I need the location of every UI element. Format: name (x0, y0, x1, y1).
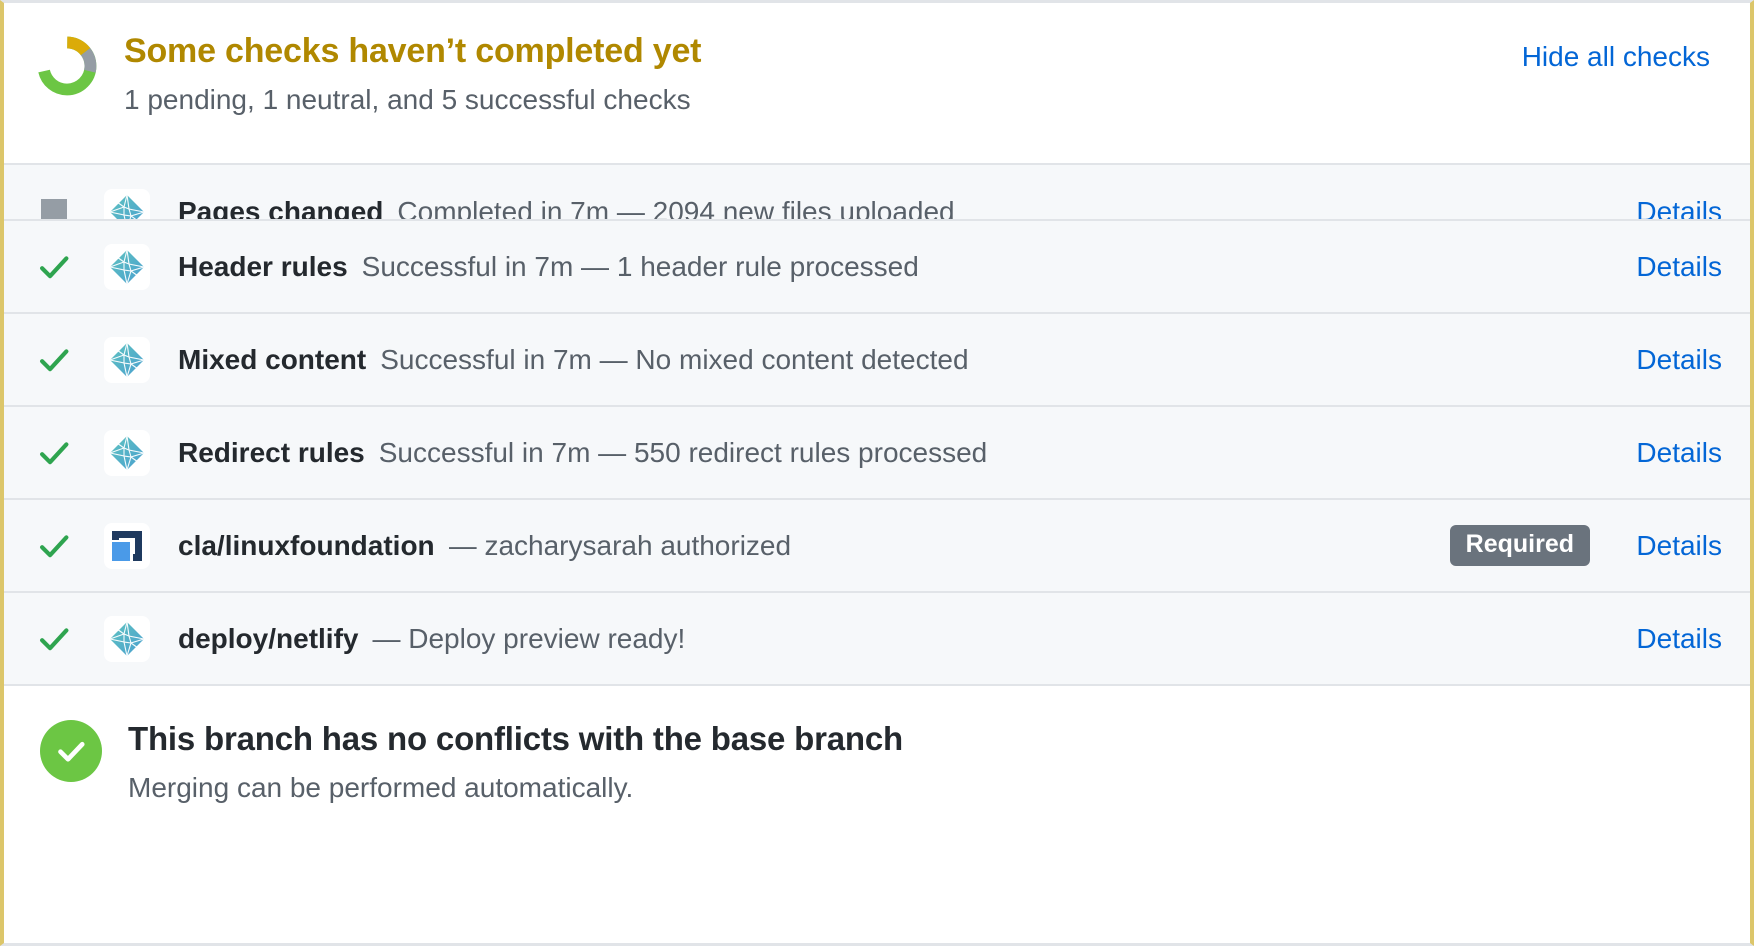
checks-summary-subtitle: 1 pending, 1 neutral, and 5 successful c… (124, 80, 1522, 121)
checks-list: Pages changedCompleted in 7m — 2094 new … (4, 163, 1750, 686)
hide-all-checks-link[interactable]: Hide all checks (1522, 41, 1722, 73)
check-row-inner: deploy/netlify— Deploy preview ready!Det… (4, 616, 1722, 662)
branch-conflict-status: This branch has no conflicts with the ba… (4, 686, 1750, 837)
check-description: — zacharysarah authorized (449, 530, 1434, 562)
check-avatar-cell (104, 523, 178, 569)
checks-summary-text: Some checks haven’t completed yet 1 pend… (124, 29, 1522, 120)
check-details-link[interactable]: Details (1612, 623, 1722, 655)
check-status-cell (4, 341, 104, 379)
cla-linuxfoundation-icon (104, 523, 150, 569)
check-row-inner: Pages changedCompleted in 7m — 2094 new … (4, 189, 1722, 221)
check-row-inner: Header rulesSuccessful in 7m — 1 header … (4, 244, 1722, 290)
check-status-cell (4, 620, 104, 658)
check-mark-icon (35, 434, 73, 472)
checks-summary-header: Some checks haven’t completed yet 1 pend… (4, 3, 1750, 163)
check-avatar-cell (104, 189, 178, 221)
check-row-inner: cla/linuxfoundation— zacharysarah author… (4, 523, 1722, 569)
check-row[interactable]: Mixed contentSuccessful in 7m — No mixed… (4, 314, 1750, 407)
check-details-link[interactable]: Details (1612, 530, 1722, 562)
netlify-diamond-icon (104, 616, 150, 662)
check-row[interactable]: cla/linuxfoundation— zacharysarah author… (4, 500, 1750, 593)
check-status-cell (4, 527, 104, 565)
netlify-diamond-icon (104, 244, 150, 290)
check-mark-icon (35, 341, 73, 379)
check-avatar-cell (104, 337, 178, 383)
check-row[interactable]: Pages changedCompleted in 7m — 2094 new … (4, 165, 1750, 221)
branch-conflict-title: This branch has no conflicts with the ba… (128, 719, 1722, 759)
green-check-circle-icon (40, 720, 102, 782)
check-name[interactable]: Header rules (178, 251, 348, 283)
check-mark-icon (35, 620, 73, 658)
check-description: Completed in 7m — 2094 new files uploade… (397, 196, 1596, 221)
check-row-actions: RequiredDetails (1450, 525, 1722, 566)
check-row[interactable]: Redirect rulesSuccessful in 7m — 550 red… (4, 407, 1750, 500)
donut-chart-icon (36, 35, 98, 97)
check-description: — Deploy preview ready! (372, 623, 1596, 655)
check-description: Successful in 7m — 550 redirect rules pr… (379, 437, 1596, 469)
branch-conflict-text: This branch has no conflicts with the ba… (128, 718, 1722, 807)
check-name[interactable]: Mixed content (178, 344, 366, 376)
check-name[interactable]: deploy/netlify (178, 623, 358, 655)
neutral-square-icon (41, 199, 67, 221)
check-row-actions: Details (1612, 623, 1722, 655)
check-row-actions: Details (1612, 251, 1722, 283)
netlify-diamond-icon (104, 430, 150, 476)
checks-summary-title: Some checks haven’t completed yet (124, 31, 1522, 72)
check-avatar-cell (104, 244, 178, 290)
check-mark-icon (35, 527, 73, 565)
check-status-cell (4, 434, 104, 472)
branch-conflict-subtitle: Merging can be performed automatically. (128, 768, 1722, 807)
check-name[interactable]: cla/linuxfoundation (178, 530, 435, 562)
check-avatar-cell (104, 430, 178, 476)
check-details-link[interactable]: Details (1612, 251, 1722, 283)
check-row-actions: Details (1612, 344, 1722, 376)
check-row-actions: Details (1612, 196, 1722, 221)
check-status-cell (4, 199, 104, 221)
check-details-link[interactable]: Details (1612, 196, 1722, 221)
check-row-inner: Mixed contentSuccessful in 7m — No mixed… (4, 337, 1722, 383)
check-details-link[interactable]: Details (1612, 437, 1722, 469)
merge-status-box: Some checks haven’t completed yet 1 pend… (0, 0, 1754, 946)
check-description: Successful in 7m — 1 header rule process… (362, 251, 1596, 283)
check-status-cell (4, 248, 104, 286)
check-row[interactable]: deploy/netlify— Deploy preview ready!Det… (4, 593, 1750, 686)
check-row-actions: Details (1612, 437, 1722, 469)
check-description: Successful in 7m — No mixed content dete… (380, 344, 1596, 376)
check-avatar-cell (104, 616, 178, 662)
check-name[interactable]: Pages changed (178, 196, 383, 221)
check-row-inner: Redirect rulesSuccessful in 7m — 550 red… (4, 430, 1722, 476)
check-mark-icon (35, 248, 73, 286)
netlify-diamond-icon (104, 189, 150, 221)
required-badge: Required (1450, 525, 1590, 566)
check-row[interactable]: Header rulesSuccessful in 7m — 1 header … (4, 221, 1750, 314)
netlify-diamond-icon (104, 337, 150, 383)
check-name[interactable]: Redirect rules (178, 437, 365, 469)
check-details-link[interactable]: Details (1612, 344, 1722, 376)
